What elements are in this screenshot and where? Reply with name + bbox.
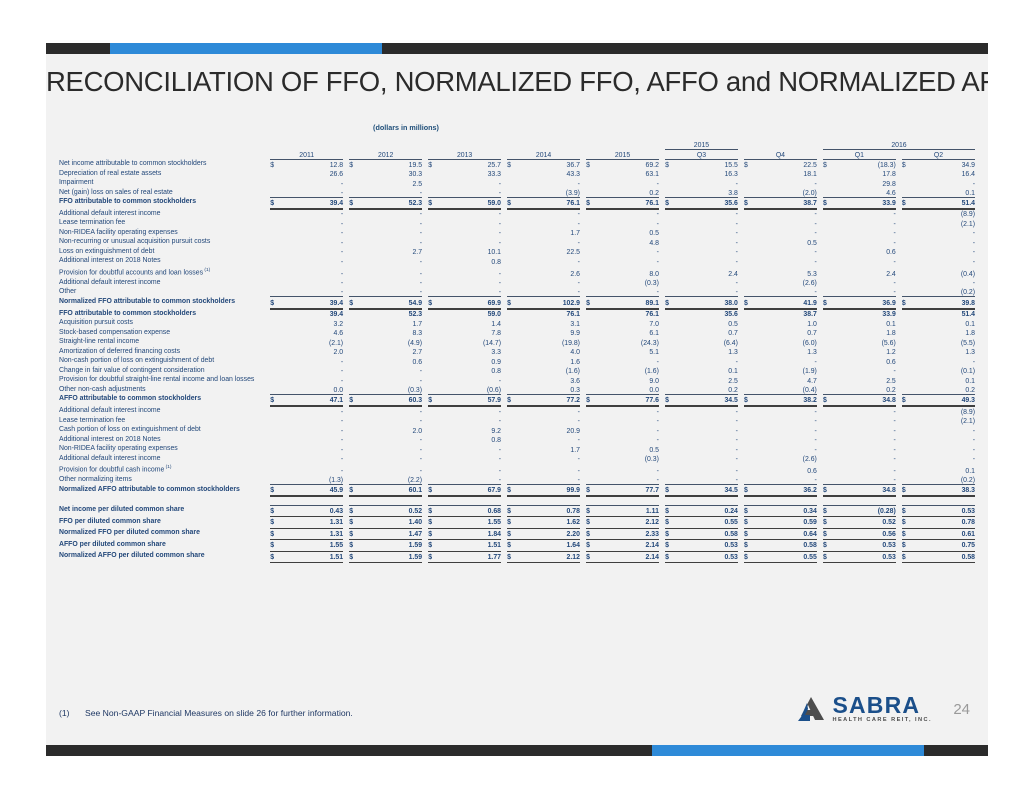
table-cell: - [437,375,501,385]
table-cell: 8.0 [595,266,659,278]
currency-symbol: $ [902,297,911,307]
currency-symbol [902,318,911,328]
currency-symbol: $ [507,540,516,550]
table-cell: - [832,463,896,475]
table-cell: 29.8 [832,178,896,188]
currency-symbol: $ [823,197,832,207]
table-cell: 2.0 [280,347,344,357]
table-cell: 1.4 [437,318,501,328]
currency-symbol [349,454,358,464]
table-row: Normalized FFO per diluted common share$… [59,528,975,538]
table-cell: (0.6) [437,385,501,395]
row-label: Additional default interest income [59,278,270,288]
table-cell: - [674,356,738,366]
currency-symbol: $ [823,159,832,169]
currency-symbol [428,278,437,288]
table-cell: - [437,475,501,485]
table-cell: - [674,287,738,297]
table-row: Impairment-2.5-----29.8- [59,178,975,188]
row-label: Straight-line rental income [59,337,270,347]
table-cell: 5.1 [595,347,659,357]
footnote-text: See Non-GAAP Financial Measures on slide… [85,708,353,718]
table-cell: 9.0 [595,375,659,385]
table-cell: - [280,218,344,228]
table-cell: 4.6 [832,188,896,198]
table-cell: - [280,287,344,297]
table-row: Provision for doubtful cash income (1)--… [59,463,975,475]
currency-symbol [744,237,753,247]
currency-symbol [349,444,358,454]
table-cell: 12.8 [280,159,344,169]
currency-symbol [744,209,753,219]
table-cell: 22.5 [516,247,580,257]
table-cell: - [358,287,422,297]
currency-symbol [270,385,279,395]
table-cell: (2.1) [911,416,975,426]
col-header-q4-2015: Q4 [744,149,817,159]
currency-symbol: $ [270,197,279,207]
table-cell: 0.3 [516,385,580,395]
currency-symbol: $ [507,517,516,527]
currency-symbol [665,385,674,395]
currency-symbol [507,406,516,416]
currency-symbol: $ [428,197,437,207]
table-cell: 0.9 [437,356,501,366]
currency-symbol: $ [349,297,358,307]
currency-symbol [902,169,911,179]
table-cell: - [674,209,738,219]
table-cell: 43.3 [516,169,580,179]
currency-symbol [428,328,437,338]
currency-symbol: $ [586,485,595,495]
table-row: Non-recurring or unusual acquisition pur… [59,237,975,247]
currency-symbol [586,356,595,366]
table-cell: - [911,178,975,188]
currency-symbol: $ [744,159,753,169]
table-cell: 0.55 [674,517,738,527]
table-cell: 4.7 [753,375,817,385]
table-row: Stock-based compensation expense4.68.37.… [59,328,975,338]
table-cell: - [832,366,896,376]
col-group-2015: 2015 [665,139,738,149]
currency-symbol [744,337,753,347]
table-cell: 1.59 [358,551,422,561]
table-cell: 0.6 [358,356,422,366]
table-cell: - [358,237,422,247]
currency-symbol [428,347,437,357]
table-cell: 2.12 [595,517,659,527]
currency-symbol [823,406,832,416]
table-cell: - [516,435,580,445]
currency-symbol [270,406,279,416]
table-cell: (0.4) [911,266,975,278]
table-cell: 59.0 [437,197,501,207]
table-cell: 16.4 [911,169,975,179]
table-cell: 8.3 [358,328,422,338]
row-label: AFFO attributable to common stockholders [59,394,270,404]
currency-symbol [744,463,753,475]
table-cell: 47.1 [280,394,344,404]
col-header-q3-2015: Q3 [665,149,738,159]
currency-symbol [586,309,595,319]
table-cell: 0.61 [911,528,975,538]
table-cell: (0.3) [595,454,659,464]
currency-symbol: $ [270,517,279,527]
currency-symbol: $ [349,197,358,207]
table-cell: 52.3 [358,197,422,207]
currency-symbol [823,247,832,257]
currency-symbol: $ [428,551,437,561]
currency-symbol [428,309,437,319]
table-cell: 0.8 [437,366,501,376]
currency-symbol [586,454,595,464]
table-cell: 0.24 [674,505,738,515]
table-cell: 2.4 [674,266,738,278]
table-cell: 0.43 [280,505,344,515]
table-cell: - [753,435,817,445]
table-cell: 1.3 [753,347,817,357]
currency-symbol [823,385,832,395]
table-cell: 7.8 [437,328,501,338]
currency-symbol [349,475,358,485]
table-cell: - [437,237,501,247]
currency-symbol [665,309,674,319]
table-cell: 0.5 [674,318,738,328]
table-cell: (0.1) [911,366,975,376]
table-cell: 1.8 [911,328,975,338]
row-label: Additional interest on 2018 Notes [59,435,270,445]
currency-symbol [428,337,437,347]
row-label: Provision for doubtful cash income (1) [59,463,270,475]
currency-symbol [823,356,832,366]
currency-symbol: $ [665,551,674,561]
currency-symbol [665,347,674,357]
table-cell: - [516,178,580,188]
table-cell: - [832,444,896,454]
table-cell: (14.7) [437,337,501,347]
currency-symbol [586,337,595,347]
currency-symbol [902,309,911,319]
table-cell: - [595,247,659,257]
currency-symbol [507,247,516,257]
currency-symbol [665,287,674,297]
table-cell: - [437,454,501,464]
currency-symbol [349,237,358,247]
currency-symbol [744,475,753,485]
currency-symbol [902,247,911,257]
table-row: Acquisition pursuit costs3.21.71.43.17.0… [59,318,975,328]
table-cell: (1.3) [280,475,344,485]
table-cell: 1.64 [516,540,580,550]
top-decor-bar [46,43,988,54]
currency-symbol [744,444,753,454]
table-cell: 0.5 [595,228,659,238]
table-cell: - [280,406,344,416]
currency-symbol [823,278,832,288]
currency-symbol: $ [270,528,279,538]
table-row: Provision for doubtful straight-line ren… [59,375,975,385]
row-label: Additional default interest income [59,454,270,464]
currency-symbol [744,318,753,328]
currency-symbol [507,444,516,454]
currency-symbol [665,247,674,257]
currency-symbol [428,169,437,179]
table-cell: - [832,406,896,416]
currency-symbol [270,266,279,278]
currency-symbol [349,287,358,297]
currency-symbol [349,375,358,385]
currency-symbol [507,228,516,238]
table-cell: 69.9 [437,297,501,307]
currency-symbol [349,425,358,435]
currency-symbol: $ [349,517,358,527]
currency-symbol [823,435,832,445]
table-cell: 1.3 [911,347,975,357]
currency-symbol [744,356,753,366]
table-cell: 2.5 [674,375,738,385]
table-cell: - [674,475,738,485]
table-cell: - [280,366,344,376]
row-label: AFFO per diluted common share [59,540,270,550]
table-cell: - [437,416,501,426]
table-row: Lease termination fee--------(2.1) [59,218,975,228]
table-cell: 39.4 [280,309,344,319]
currency-symbol: $ [665,540,674,550]
table-cell: - [674,425,738,435]
currency-symbol [902,454,911,464]
table-cell: 1.8 [832,328,896,338]
currency-symbol [902,278,911,288]
table-cell: 36.7 [516,159,580,169]
currency-symbol [270,475,279,485]
currency-symbol: $ [744,528,753,538]
row-label: Provision for doubtful straight-line ren… [59,375,270,385]
table-cell: - [516,218,580,228]
table-cell: 54.9 [358,297,422,307]
currency-symbol [823,347,832,357]
currency-symbol: $ [428,517,437,527]
col-group-2016: 2016 [823,139,975,149]
currency-symbol [744,375,753,385]
table-cell: 2.6 [516,266,580,278]
table-cell: - [674,278,738,288]
table-cell: - [595,463,659,475]
row-label: Net income per diluted common share [59,505,270,515]
currency-symbol: $ [665,297,674,307]
table-cell: - [437,178,501,188]
table-cell: 0.59 [753,517,817,527]
table-cell: 1.7 [358,318,422,328]
currency-symbol [744,385,753,395]
table-cell: (18.3) [832,159,896,169]
currency-symbol [349,385,358,395]
table-cell: - [516,209,580,219]
currency-symbol [586,188,595,198]
table-row: Cash portion of loss on extinguishment o… [59,425,975,435]
table-cell: - [280,375,344,385]
table-cell: - [674,237,738,247]
row-label: FFO per diluted common share [59,517,270,527]
row-label: Loss on extinguishment of debt [59,247,270,257]
table-row: Non-cash portion of loss on extinguishme… [59,356,975,366]
currency-symbol [665,454,674,464]
table-cell: - [911,435,975,445]
currency-symbol [270,444,279,454]
table-row: Other non-cash adjustments0.0(0.3)(0.6)0… [59,385,975,395]
table-cell: 0.52 [832,517,896,527]
currency-symbol [586,287,595,297]
currency-symbol [270,318,279,328]
table-cell: - [280,454,344,464]
table-cell: - [753,444,817,454]
table-cell: - [358,454,422,464]
currency-symbol [428,366,437,376]
table-cell: (6.0) [753,337,817,347]
table-cell: 3.6 [516,375,580,385]
currency-symbol [902,356,911,366]
currency-symbol [902,178,911,188]
currency-symbol [428,178,437,188]
currency-symbol [823,416,832,426]
col-header-q2-2016: Q2 [902,149,975,159]
table-cell: 0.2 [911,385,975,395]
table-cell: 38.7 [753,197,817,207]
currency-symbol: $ [744,551,753,561]
table-cell: - [832,228,896,238]
currency-symbol [586,218,595,228]
table-cell: - [280,256,344,266]
table-cell: 1.40 [358,517,422,527]
currency-symbol [507,309,516,319]
currency-symbol [507,435,516,445]
currency-symbol [507,366,516,376]
currency-symbol [586,385,595,395]
currency-symbol [507,475,516,485]
table-row: Other normalizing items(1.3)(2.2)------(… [59,475,975,485]
currency-symbol [823,444,832,454]
currency-symbol [586,444,595,454]
table-cell: 36.9 [832,297,896,307]
table-cell: 0.1 [911,188,975,198]
currency-symbol [902,218,911,228]
slide: RECONCILIATION OF FFO, NORMALIZED FFO, A… [46,43,988,756]
currency-symbol [428,385,437,395]
table-cell: 0.2 [674,385,738,395]
currency-symbol [428,463,437,475]
currency-symbol [270,416,279,426]
table-cell: 57.9 [437,394,501,404]
currency-symbol [507,287,516,297]
table-cell: 0.6 [753,463,817,475]
currency-symbol [665,318,674,328]
table-cell: - [280,416,344,426]
currency-symbol [823,287,832,297]
row-footnote-marker: (1) [203,268,210,273]
currency-symbol [586,463,595,475]
table-cell: - [832,209,896,219]
col-header-2011: 2011 [270,149,343,159]
table-cell: - [595,416,659,426]
currency-symbol [823,266,832,278]
currency-symbol: $ [823,485,832,495]
table-cell: 38.0 [674,297,738,307]
currency-symbol [744,247,753,257]
table-cell: 25.7 [437,159,501,169]
currency-symbol [665,425,674,435]
table-header: 2015 2016 2011 2012 2013 2014 2015 Q3 Q4… [59,139,975,159]
table-cell: 0.1 [911,463,975,475]
currency-symbol [270,454,279,464]
table-cell: 1.11 [595,505,659,515]
table-cell: - [358,463,422,475]
row-label: Net income attributable to common stockh… [59,159,270,169]
currency-symbol: $ [270,297,279,307]
row-label: Non-RIDEA facility operating expenses [59,228,270,238]
table-row: Normalized AFFO per diluted common share… [59,551,975,561]
table-cell: 2.20 [516,528,580,538]
currency-symbol: $ [507,528,516,538]
currency-symbol [586,169,595,179]
table-cell: 102.9 [516,297,580,307]
table-cell: (1.6) [516,366,580,376]
currency-symbol: $ [270,485,279,495]
currency-symbol [270,366,279,376]
spacer-row [59,496,975,505]
currency-symbol [349,228,358,238]
currency-symbol: $ [507,197,516,207]
table-cell: 4.6 [280,328,344,338]
table-cell: 10.1 [437,247,501,257]
currency-symbol [902,209,911,219]
table-cell: 39.4 [280,297,344,307]
table-cell: 0.34 [753,505,817,515]
currency-symbol: $ [902,517,911,527]
table-cell: 0.52 [358,505,422,515]
table-row: Additional interest on 2018 Notes--0.8--… [59,256,975,266]
currency-symbol [270,435,279,445]
table-cell: - [280,188,344,198]
table-cell: - [280,425,344,435]
currency-symbol [507,375,516,385]
table-row: Non-RIDEA facility operating expenses---… [59,228,975,238]
table-cell: (2.6) [753,454,817,464]
table-cell: 0.55 [753,551,817,561]
row-label: Acquisition pursuit costs [59,318,270,328]
currency-symbol [270,463,279,475]
row-label: FFO attributable to common stockholders [59,309,270,319]
currency-symbol [823,318,832,328]
currency-symbol [665,475,674,485]
table-cell: - [280,237,344,247]
table-cell: - [516,416,580,426]
currency-symbol [507,337,516,347]
table-cell: 0.6 [832,247,896,257]
currency-symbol [744,178,753,188]
table-cell: - [832,237,896,247]
currency-symbol [665,416,674,426]
currency-symbol [586,228,595,238]
table-cell: 9.2 [437,425,501,435]
currency-symbol [744,169,753,179]
table-cell: - [437,266,501,278]
table-cell: - [280,228,344,238]
table-cell: - [516,463,580,475]
currency-symbol [665,256,674,266]
currency-symbol: $ [428,540,437,550]
currency-symbol: $ [823,297,832,307]
currency-symbol [665,366,674,376]
currency-symbol [270,375,279,385]
